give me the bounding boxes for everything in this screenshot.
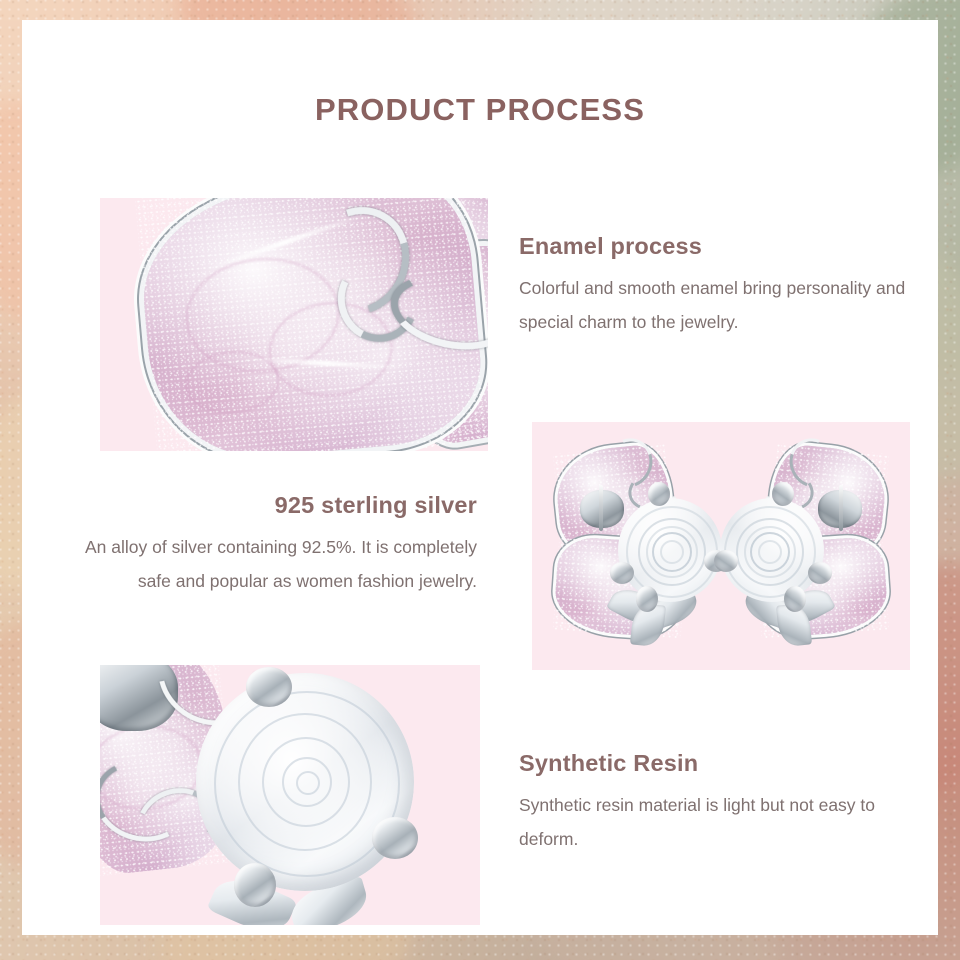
butterfly-body bbox=[818, 490, 862, 528]
earring-pair-scene bbox=[532, 422, 910, 670]
silver-bead bbox=[772, 482, 794, 506]
resin-heading: Synthetic Resin bbox=[519, 750, 911, 777]
silver-bead bbox=[372, 817, 418, 859]
silver-body: An alloy of silver containing 92.5%. It … bbox=[84, 531, 477, 598]
earring-pair-photo bbox=[532, 422, 910, 670]
silver-bead bbox=[234, 863, 276, 907]
rose-petal-ring bbox=[744, 526, 796, 578]
resin-macro-scene bbox=[100, 665, 480, 925]
left-earring bbox=[554, 444, 724, 649]
rose-petal-ring bbox=[758, 540, 782, 564]
resin-rose bbox=[720, 498, 824, 602]
silver-text-block: 925 sterling silver An alloy of silver c… bbox=[84, 492, 477, 598]
enamel-heading: Enamel process bbox=[519, 233, 909, 260]
resin-body: Synthetic resin material is light but no… bbox=[519, 789, 911, 856]
butterfly-body bbox=[580, 490, 624, 528]
rose-petal-ring bbox=[724, 506, 816, 598]
product-process-infographic: PRODUCT PROCESS bbox=[0, 0, 960, 960]
enamel-text-block: Enamel process Colorful and smooth ename… bbox=[519, 233, 909, 339]
silver-bead bbox=[714, 550, 738, 572]
page-title: PRODUCT PROCESS bbox=[22, 92, 938, 128]
rose-petal-ring bbox=[646, 526, 698, 578]
right-earring bbox=[718, 444, 888, 649]
silver-bead bbox=[784, 586, 806, 612]
enamel-body: Colorful and smooth enamel bring persona… bbox=[519, 272, 909, 339]
rose-petal-ring bbox=[626, 506, 718, 598]
silver-bead bbox=[636, 586, 658, 612]
silver-bead bbox=[246, 667, 292, 707]
rose-petal-ring bbox=[660, 540, 684, 564]
silver-heading: 925 sterling silver bbox=[84, 492, 477, 519]
resin-rose-macro bbox=[196, 673, 414, 891]
silver-bead bbox=[808, 562, 832, 584]
enamel-macro-photo bbox=[100, 198, 488, 451]
resin-rose bbox=[618, 498, 722, 602]
silver-bead bbox=[610, 562, 634, 584]
content-card: PRODUCT PROCESS bbox=[22, 20, 938, 935]
resin-text-block: Synthetic Resin Synthetic resin material… bbox=[519, 750, 911, 856]
rose-petal-ring bbox=[296, 771, 320, 795]
enamel-macro-scene bbox=[100, 198, 488, 451]
resin-macro-photo bbox=[100, 665, 480, 925]
silver-bead bbox=[648, 482, 670, 506]
